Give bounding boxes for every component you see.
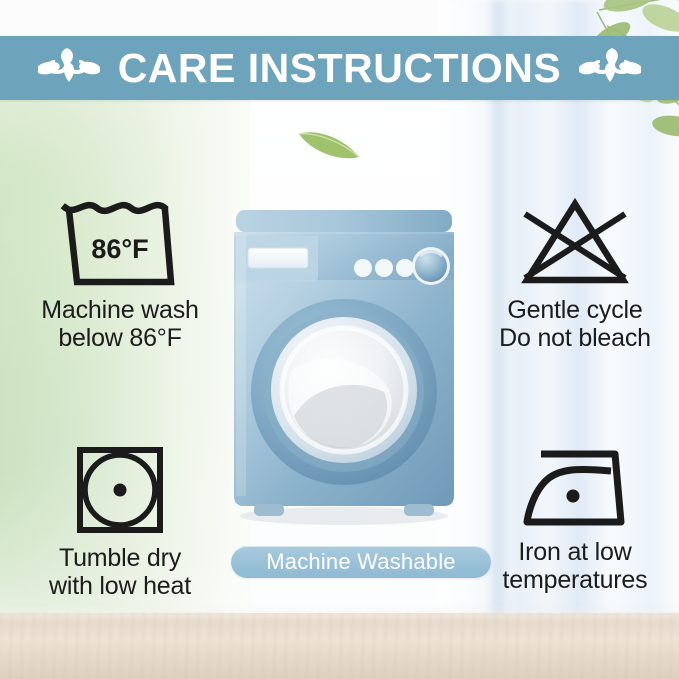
care-symbol-caption-do-not-bleach: Gentle cycle Do not bleach (470, 296, 679, 352)
wooden-table-surface (0, 613, 679, 679)
fleur-de-lis-ornament-right (579, 45, 641, 91)
washing-machine-illustration (232, 210, 456, 530)
care-instructions-infographic: CARE INSTRUCTIONS 86°F Machine wash belo… (0, 0, 679, 679)
care-symbol-caption-machine-wash: Machine wash below 86°F (8, 296, 232, 352)
page-title: CARE INSTRUCTIONS (118, 48, 562, 89)
machine-washable-badge-label: Machine Washable (266, 551, 455, 573)
wash-temperature-label: 86°F (91, 234, 148, 264)
iron-icon (515, 444, 635, 530)
care-symbol-caption-iron: Iron at low temperatures (470, 538, 679, 594)
triangle-crossed-out-icon (515, 196, 635, 288)
header-banner: CARE INSTRUCTIONS (0, 36, 679, 100)
floating-leaf-icon (296, 124, 362, 164)
care-symbol-caption-tumble-dry: Tumble dry with low heat (8, 544, 232, 600)
tumble-dry-square-icon (74, 444, 166, 536)
care-symbol-do-not-bleach: Gentle cycle Do not bleach (470, 196, 679, 352)
wash-tub-icon: 86°F (55, 196, 185, 288)
care-symbol-machine-wash: 86°F Machine wash below 86°F (8, 196, 232, 352)
machine-washable-badge: Machine Washable (231, 546, 491, 578)
care-symbol-tumble-dry: Tumble dry with low heat (8, 444, 232, 600)
fleur-de-lis-ornament-left (38, 45, 100, 91)
care-symbol-iron: Iron at low temperatures (470, 444, 679, 594)
